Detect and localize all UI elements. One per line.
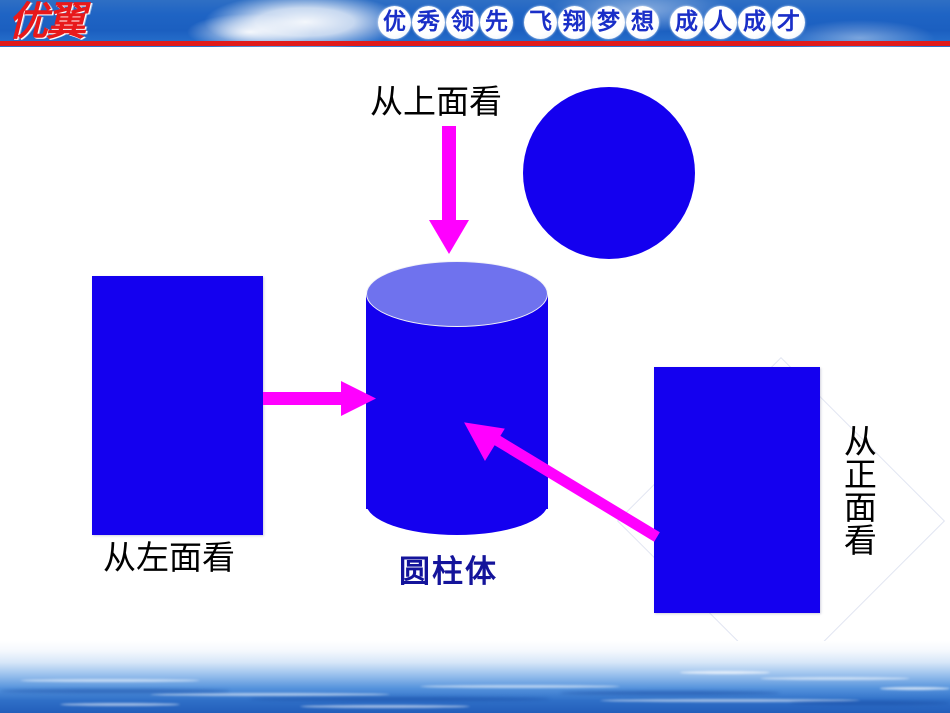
slogan-char: 成 <box>738 6 771 39</box>
slogan-char: 秀 <box>412 6 445 39</box>
front-view-rectangle-shape <box>654 367 820 613</box>
slogan-char: 优 <box>378 6 411 39</box>
header-slogan: 优 秀 领 先 飞 翔 梦 想 成 人 成 才 <box>378 3 805 41</box>
slogan-char: 翔 <box>558 6 591 39</box>
brand-logo-text: 优翼 <box>8 0 84 44</box>
slogan-char: 才 <box>772 6 805 39</box>
down-arrow-icon <box>424 126 474 256</box>
right-arrow-icon <box>263 377 378 421</box>
label-left-view: 从左面看 <box>103 540 235 577</box>
slogan-char: 先 <box>480 6 513 39</box>
cylinder-shape <box>366 258 548 536</box>
slogan-char: 飞 <box>524 6 557 39</box>
top-view-circle-shape <box>523 87 695 259</box>
label-top-view: 从上面看 <box>370 84 502 121</box>
footer-wave-band <box>0 641 950 713</box>
slogan-char: 梦 <box>592 6 625 39</box>
slogan-char: 人 <box>704 6 737 39</box>
label-cylinder-name: 圆柱体 <box>399 546 498 591</box>
presentation-slide: 优 秀 领 先 飞 翔 梦 想 成 人 成 才 优翼 <box>0 0 950 713</box>
cylinder-top-ellipse <box>366 261 548 327</box>
slogan-char: 领 <box>446 6 479 39</box>
left-view-rectangle-shape <box>92 276 263 535</box>
brand-logo: 优翼 <box>8 2 158 46</box>
label-front-view: 从正面看 <box>840 424 874 556</box>
slogan-char: 成 <box>670 6 703 39</box>
slogan-char: 想 <box>626 6 659 39</box>
